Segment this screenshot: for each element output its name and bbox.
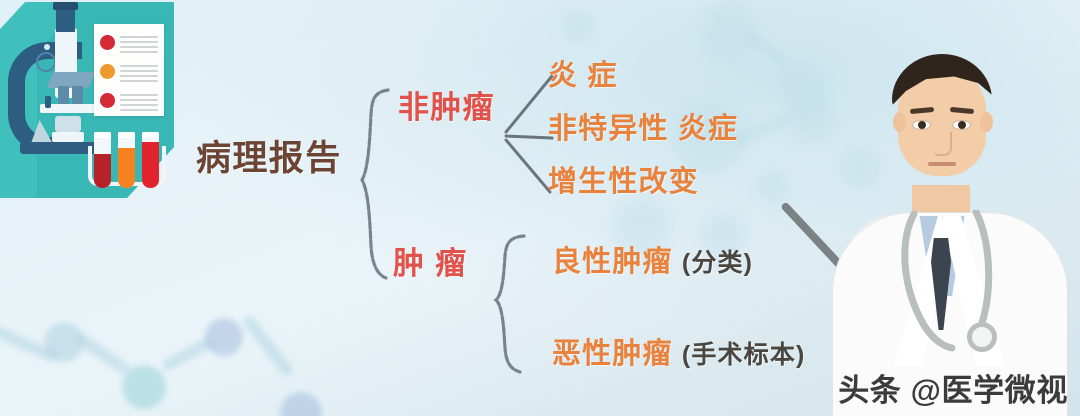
root-brace [352, 84, 398, 284]
infographic-canvas: 病理报告 非肿瘤 炎 症 非特异性 炎症 增生性改变 肿 瘤 良性肿瘤 (分类)… [0, 0, 1080, 416]
diagram-leaf-1-0: 良性肿瘤 (分类) [552, 238, 753, 280]
leaf-main-text: 增生性改变 [548, 166, 699, 198]
sheet-badge-2 [100, 64, 115, 79]
diagram-branch-label-0: 非肿瘤 [398, 82, 495, 127]
test-tube-rack-icon [88, 130, 166, 192]
doctor-illustration [810, 0, 1080, 416]
diagram-leaf-0-1: 非特异性 炎症 [548, 105, 738, 147]
sheet-badge-3 [100, 93, 115, 108]
diagram-root-label: 病理报告 [196, 130, 342, 181]
diagram-leaf-1-1: 恶性肿瘤 (手术标本) [552, 330, 805, 372]
diagram-leaf-0-2: 增生性改变 [548, 158, 699, 200]
microscope-lab-illustration [0, 0, 200, 205]
leaf-main-text: 非特异性 炎症 [548, 113, 738, 145]
leaf-main-text: 良性肿瘤 [552, 246, 673, 278]
leaf-note-text: (手术标本) [682, 341, 806, 369]
tumor-brace [488, 228, 532, 378]
watermark-text: 头条 @医学微视 [838, 365, 1068, 410]
leaf-main-text: 炎 症 [548, 60, 618, 92]
diagram-branch-label-1: 肿 瘤 [393, 238, 467, 283]
leaf-note-text: (分类) [682, 249, 753, 277]
diagram-leaf-0-0: 炎 症 [548, 52, 618, 94]
report-sheet-icon [94, 24, 164, 116]
leaf-main-text: 恶性肿瘤 [552, 338, 673, 370]
stethoscope-chestpiece [967, 322, 997, 352]
sheet-badge-1 [100, 35, 115, 50]
